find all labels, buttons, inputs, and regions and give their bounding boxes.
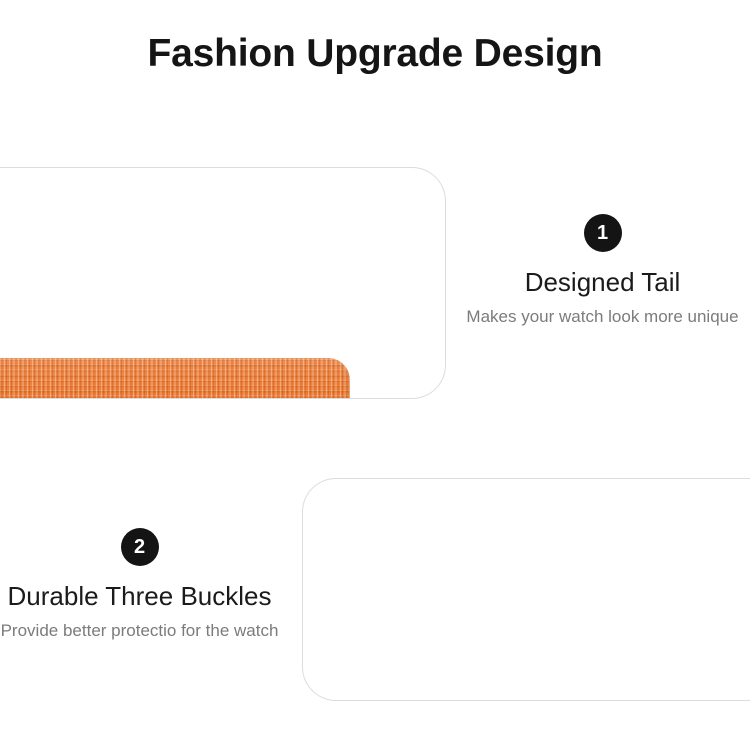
photo-panel-bottom [302, 478, 750, 701]
feature-description-2: Provide better protectio for the watch [0, 619, 279, 643]
feature-heading-2: Durable Three Buckles [0, 580, 279, 612]
feature-badge-1: 1 [584, 214, 622, 252]
feature-block-2: 2 Durable Three Buckles Provide better p… [0, 528, 279, 643]
feature-description-1: Makes your watch look more unique [455, 305, 750, 329]
photo-panel-top: KB 05 SWEATPROOF DURABLE TENACITY Kalebo… [0, 167, 446, 399]
product-feature-page: Fashion Upgrade Design KB 05 SWEATPROOF … [0, 0, 750, 750]
feature-badge-2: 2 [121, 528, 159, 566]
page-title: Fashion Upgrade Design [0, 32, 750, 76]
feature-block-1: 1 Designed Tail Makes your watch look mo… [455, 214, 750, 329]
strap-webbing-top [0, 358, 350, 399]
feature-heading-1: Designed Tail [455, 266, 750, 298]
